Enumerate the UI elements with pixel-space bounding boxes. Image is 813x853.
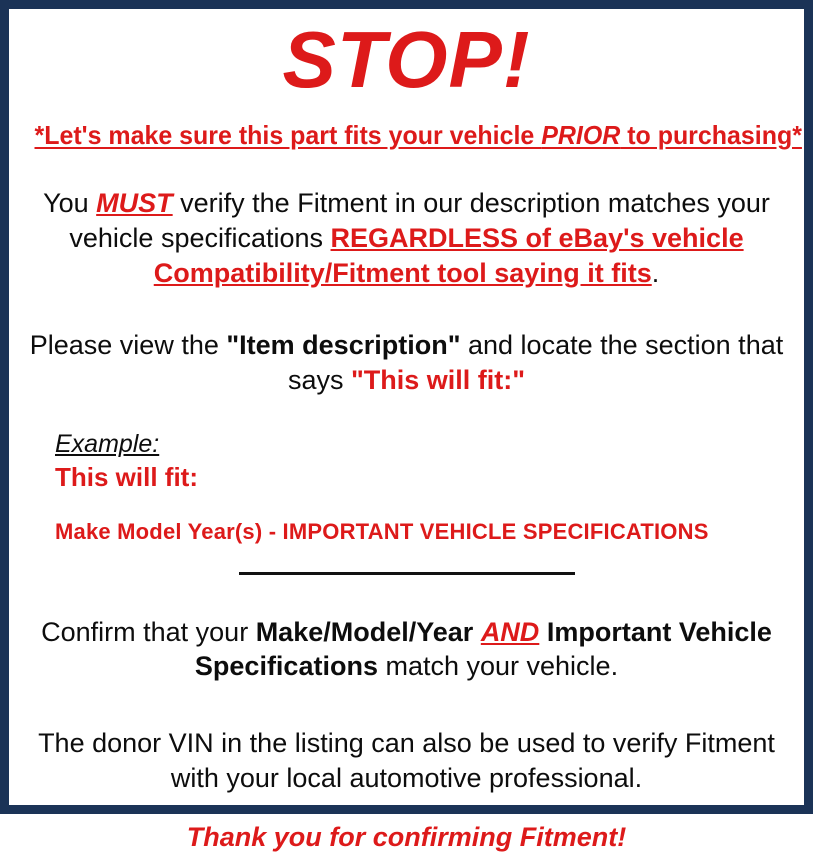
- confirm-segment-3: [539, 617, 547, 647]
- confirm-segment-1: Confirm that your: [41, 617, 256, 647]
- section-divider: [19, 572, 794, 575]
- closing-thank-you: Thank you for confirming Fitment!: [19, 821, 794, 853]
- must-segment-3: .: [652, 258, 660, 288]
- divider-rule: [239, 572, 575, 575]
- highlight-make-model-year: Make/Model/Year: [256, 617, 474, 647]
- confirm-segment-4: match your vehicle.: [378, 651, 618, 681]
- highlight-must: MUST: [96, 188, 173, 218]
- please-segment-1: Please view the: [30, 330, 227, 360]
- example-spec-line: Make Model Year(s) - IMPORTANT VEHICLE S…: [55, 519, 794, 544]
- must-segment-1: You: [43, 188, 96, 218]
- subheadline: *Let's make sure this part fits your veh…: [35, 121, 779, 151]
- page-title: STOP!: [19, 19, 794, 101]
- example-label: Example:: [55, 431, 794, 459]
- subheadline-suffix: to purchasing*: [620, 120, 802, 150]
- paragraph-please-view: Please view the "Item description" and l…: [19, 328, 794, 397]
- paragraph-must-verify: You MUST verify the Fitment in our descr…: [19, 186, 794, 290]
- example-fit-heading: This will fit:: [55, 463, 794, 493]
- paragraph-confirm-match: Confirm that your Make/Model/Year AND Im…: [19, 615, 794, 684]
- highlight-this-will-fit: "This will fit:": [351, 365, 525, 395]
- fitment-notice-card: STOP! *Let's make sure this part fits yo…: [0, 0, 813, 814]
- confirm-segment-2: [473, 617, 481, 647]
- subheadline-prefix: *Let's make sure this part fits your veh…: [35, 120, 542, 150]
- highlight-and: AND: [481, 617, 540, 647]
- subheadline-emphasis-prior: PRIOR: [541, 120, 620, 150]
- paragraph-donor-vin: The donor VIN in the listing can also be…: [19, 726, 794, 795]
- highlight-item-description: "Item description": [226, 330, 460, 360]
- example-block: Example: This will fit: Make Model Year(…: [19, 431, 794, 544]
